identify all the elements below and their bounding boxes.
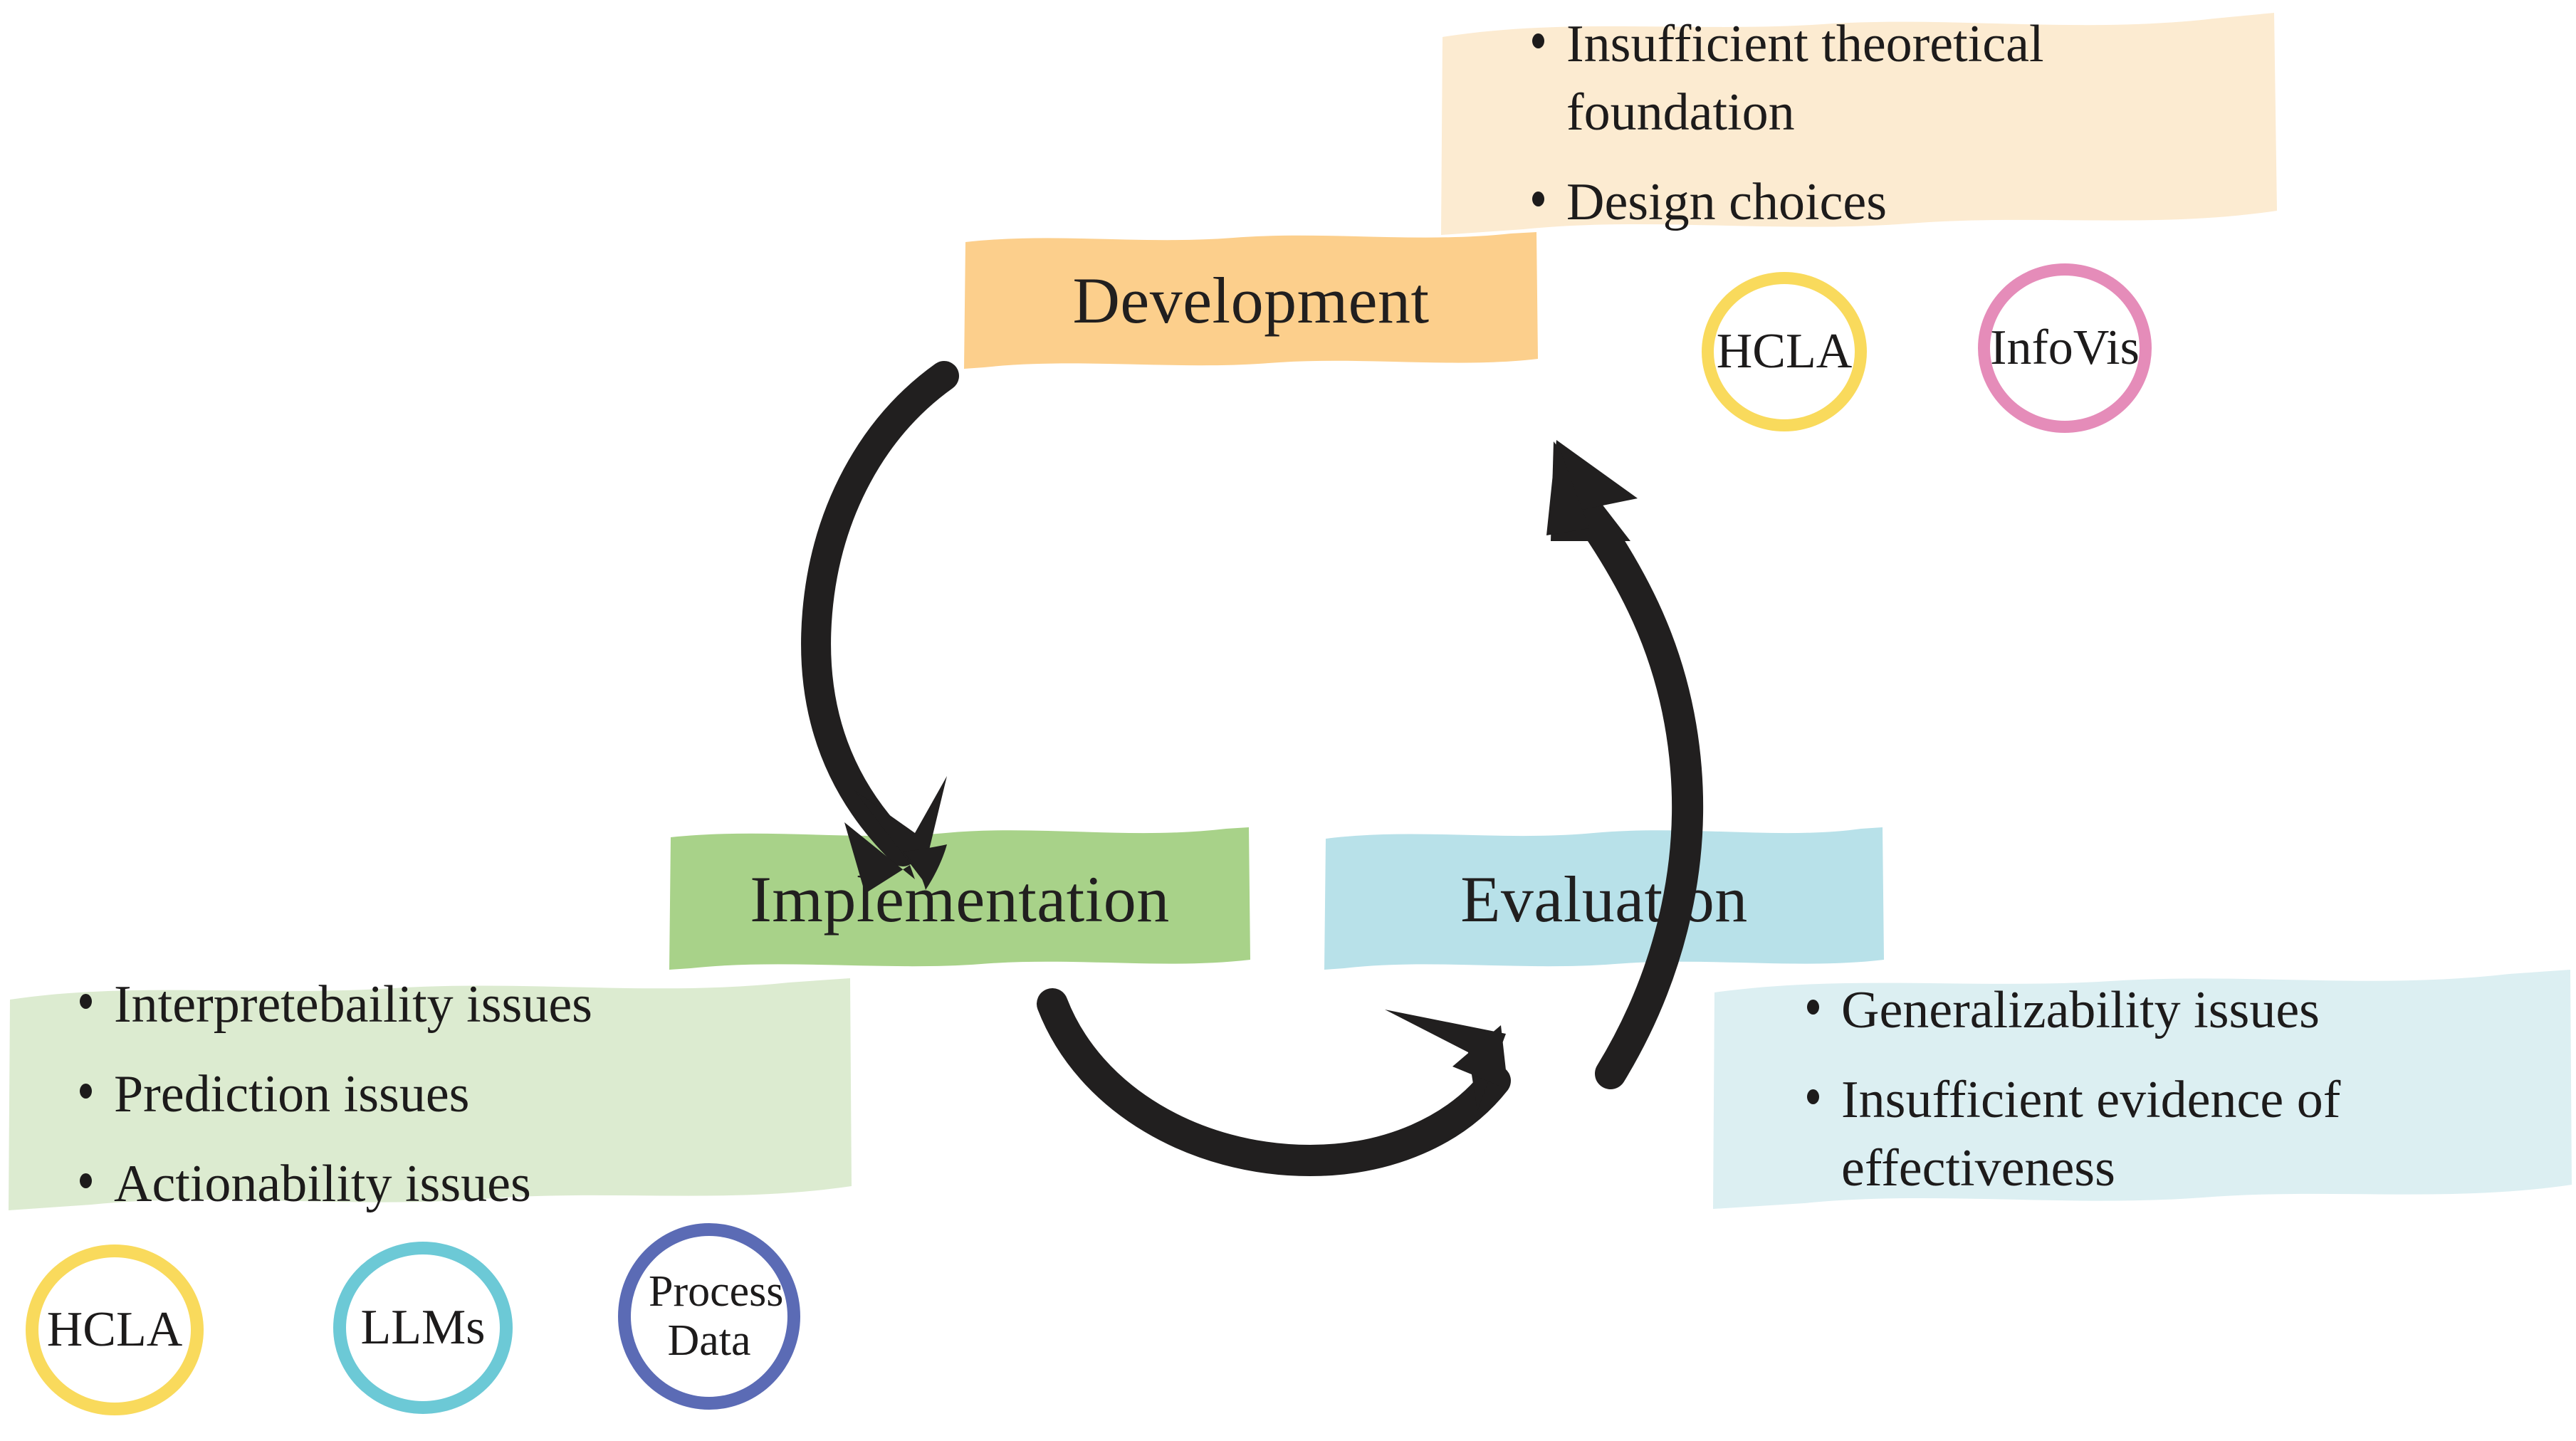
- tag-llms-label: LLMs: [361, 1300, 486, 1356]
- stage-evaluation-label-wrap: Evaluation: [1323, 865, 1885, 934]
- stage-development-label-wrap: Development: [963, 266, 1539, 335]
- stage-development-label: Development: [963, 266, 1539, 335]
- arrow-evaluation-to-development: [1546, 440, 1687, 1074]
- note-implementation-bullet: Interpretebaility issues: [70, 970, 810, 1039]
- note-evaluation-content: Generalizability issues Insufficient evi…: [1797, 976, 2533, 1203]
- stage-evaluation[interactable]: Evaluation: [1323, 824, 1885, 974]
- tag-process-data-label: Process Data: [649, 1267, 770, 1366]
- note-development-content: Insufficient theoretical foundation Desi…: [1522, 10, 2236, 237]
- tag-llms[interactable]: LLMs: [333, 1242, 513, 1414]
- tag-hcla-implementation[interactable]: HCLA: [26, 1244, 204, 1415]
- note-implementation-content: Interpretebaility issues Prediction issu…: [70, 970, 810, 1219]
- note-evaluation: Generalizability issues Insufficient evi…: [1712, 963, 2573, 1216]
- note-development-bullet: Insufficient theoretical foundation: [1522, 10, 2236, 147]
- note-implementation-bullet: Prediction issues: [70, 1060, 810, 1128]
- note-evaluation-bullet: Generalizability issues: [1797, 976, 2533, 1044]
- note-development-bullet: Design choices: [1522, 168, 2236, 236]
- tag-process-data[interactable]: Process Data: [618, 1223, 800, 1410]
- tag-infovis-development-label: InfoVis: [1990, 320, 2140, 376]
- note-evaluation-bullet: Insufficient evidence of effectiveness: [1797, 1066, 2533, 1202]
- note-implementation: Interpretebaility issues Prediction issu…: [6, 973, 853, 1216]
- arrow-implementation-to-evaluation: [1052, 1004, 1508, 1160]
- tag-hcla-development[interactable]: HCLA: [1702, 272, 1867, 431]
- stage-implementation-label: Implementation: [668, 865, 1252, 934]
- tag-hcla-development-label: HCLA: [1717, 324, 1853, 379]
- arrow-development-to-implementation: [816, 376, 947, 894]
- tag-infovis-development[interactable]: InfoVis: [1978, 263, 2152, 433]
- note-implementation-bullet: Actionability issues: [70, 1150, 810, 1218]
- stage-implementation[interactable]: Implementation: [668, 824, 1252, 974]
- stage-development[interactable]: Development: [963, 229, 1539, 372]
- diagram-canvas: Insufficient theoretical foundation Desi…: [0, 0, 2576, 1441]
- note-development: Insufficient theoretical foundation Desi…: [1438, 6, 2278, 241]
- tag-hcla-implementation-label: HCLA: [47, 1302, 183, 1358]
- stage-implementation-label-wrap: Implementation: [668, 865, 1252, 934]
- stage-evaluation-label: Evaluation: [1323, 865, 1885, 934]
